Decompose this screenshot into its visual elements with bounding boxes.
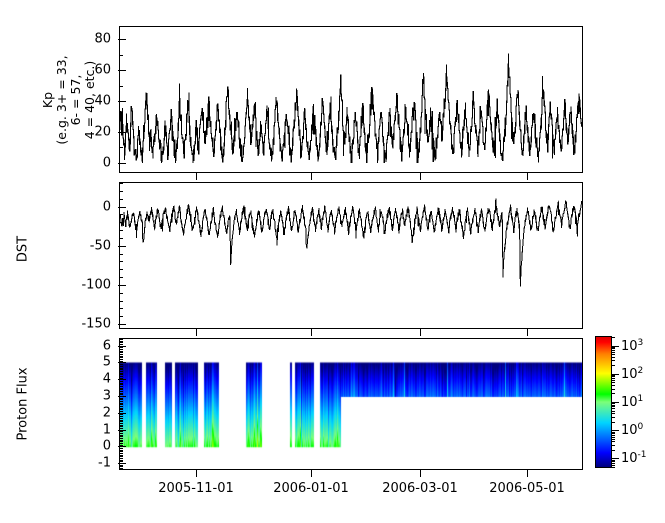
tick-mark [118, 39, 126, 40]
y-tick-label: 4 [73, 373, 111, 386]
tick-mark [119, 428, 123, 429]
tick-mark [119, 453, 123, 454]
tick-mark [118, 396, 126, 397]
tick-mark [119, 364, 123, 365]
dst-panel [119, 182, 583, 329]
tick-mark [119, 416, 123, 417]
tick-mark [119, 116, 123, 117]
tick-mark [420, 469, 421, 477]
tick-mark [119, 456, 123, 457]
y-tick-label: -50 [73, 240, 111, 253]
tick-mark [119, 466, 123, 467]
tick-mark [119, 342, 123, 343]
tick-mark [611, 450, 615, 451]
tick-mark [611, 352, 615, 353]
tick-mark [119, 339, 123, 340]
tick-mark [420, 328, 421, 336]
tick-mark [119, 393, 123, 394]
tick-mark [119, 214, 123, 215]
tick-mark [119, 418, 123, 419]
tick-mark [119, 383, 123, 384]
tick-mark [611, 405, 615, 406]
proton-plot-area [120, 339, 582, 469]
kp-axis-label-line-2: 6- = 57, [69, 25, 83, 175]
tick-mark [119, 394, 123, 395]
tick-mark [611, 385, 615, 386]
tick-mark [119, 401, 123, 402]
tick-mark [119, 351, 123, 352]
tick-mark [611, 357, 615, 358]
tick-mark [611, 380, 615, 381]
tick-mark [119, 183, 123, 184]
colorbar-gradient [596, 337, 611, 467]
tick-mark [611, 375, 615, 376]
tick-mark [119, 55, 123, 56]
colorbar-mantissa: 10 [621, 367, 638, 382]
tick-mark [119, 440, 123, 441]
tick-mark [119, 436, 123, 437]
tick-mark [119, 425, 123, 426]
tick-mark [611, 403, 615, 404]
tick-mark [119, 371, 123, 372]
tick-mark [118, 132, 126, 133]
data-trace [120, 198, 582, 286]
y-tick-label: 0 [73, 440, 111, 453]
tick-mark [611, 389, 615, 390]
proton-flux-panel [119, 338, 583, 470]
tick-mark [119, 376, 123, 377]
tick-mark [119, 468, 123, 469]
tick-mark [119, 381, 123, 382]
tick-mark [118, 163, 126, 164]
tick-mark [119, 403, 123, 404]
tick-mark [119, 458, 123, 459]
tick-mark [119, 352, 123, 353]
tick-mark [119, 443, 123, 444]
tick-mark [611, 422, 615, 423]
tick-mark [119, 465, 123, 466]
tick-mark [119, 423, 123, 424]
colorbar-mantissa: 10 [621, 339, 638, 354]
tick-mark [119, 414, 123, 415]
tick-mark [119, 86, 123, 87]
y-tick-label: 3 [73, 390, 111, 403]
dst-axis-label: DST [16, 219, 31, 279]
tick-mark [119, 308, 123, 309]
tick-mark [119, 426, 123, 427]
tick-mark [119, 399, 123, 400]
tick-mark [118, 446, 126, 447]
tick-mark [119, 384, 123, 385]
tick-mark [611, 365, 615, 366]
kp-plot-area [120, 27, 582, 172]
tick-mark [119, 354, 123, 355]
proton-flux-axis-label: Proton Flux [16, 349, 31, 459]
tick-mark [611, 348, 615, 349]
tick-mark [119, 408, 123, 409]
figure-root: 020406080 Kp(e.g. 3+ = 33,6- = 57,4 = 40… [0, 0, 665, 523]
tick-mark [611, 402, 619, 403]
tick-mark [119, 230, 123, 231]
tick-mark [119, 450, 123, 451]
colorbar-mantissa: 10 [621, 451, 638, 466]
colorbar-exponent: -1 [638, 450, 647, 460]
tick-mark [611, 445, 615, 446]
proton-flux-spectrogram [120, 339, 582, 469]
tick-mark [119, 409, 123, 410]
tick-mark [420, 172, 421, 180]
tick-mark [119, 448, 123, 449]
tick-mark [611, 408, 615, 409]
tick-mark [119, 404, 123, 405]
kp-axis-label: Kp(e.g. 3+ = 33,6- = 57,4 = 40, etc.) [41, 25, 97, 175]
tick-mark [611, 411, 615, 412]
dst-plot-area [120, 183, 582, 328]
tick-mark [118, 346, 126, 347]
tick-mark [119, 199, 123, 200]
tick-mark [119, 261, 123, 262]
tick-mark [118, 463, 126, 464]
y-tick-label: -100 [73, 279, 111, 292]
tick-mark [119, 359, 123, 360]
tick-mark [611, 350, 615, 351]
data-trace [120, 54, 582, 163]
tick-mark [119, 347, 123, 348]
tick-mark [119, 420, 123, 421]
tick-mark [611, 376, 615, 377]
tick-mark [119, 421, 123, 422]
tick-mark [611, 337, 615, 338]
tick-mark [118, 413, 126, 414]
x-tick-label: 2006-01-01 [273, 482, 349, 495]
x-tick-label: 2006-03-01 [382, 482, 458, 495]
colorbar-exponent: 0 [638, 422, 644, 432]
tick-mark [119, 451, 123, 452]
tick-mark [611, 435, 615, 436]
tick-mark [611, 406, 615, 407]
x-tick-label: 2005-11-01 [158, 482, 234, 495]
y-tick-label: 6 [73, 340, 111, 353]
tick-mark [119, 366, 123, 367]
x-tick-label: 2006-05-01 [489, 482, 565, 495]
tick-mark [119, 316, 123, 317]
tick-mark [527, 172, 528, 180]
tick-mark [118, 379, 126, 380]
tick-mark [119, 373, 123, 374]
tick-mark [119, 398, 123, 399]
tick-mark [119, 388, 123, 389]
kp-axis-label-line-0: Kp [41, 25, 55, 175]
tick-mark [119, 301, 123, 302]
tick-mark [119, 411, 123, 412]
tick-mark [119, 369, 123, 370]
y-tick-label: -1 [73, 457, 111, 470]
tick-mark [119, 461, 123, 462]
y-tick-label: 2 [73, 407, 111, 420]
tick-mark [119, 356, 123, 357]
tick-mark [611, 437, 615, 438]
tick-mark [119, 238, 123, 239]
tick-mark [119, 374, 123, 375]
tick-mark [118, 70, 126, 71]
tick-mark [611, 432, 615, 433]
kp-panel [119, 26, 583, 173]
tick-mark [527, 328, 528, 336]
tick-mark [118, 285, 126, 286]
tick-mark [611, 382, 615, 383]
tick-mark [611, 433, 615, 434]
tick-mark [119, 349, 123, 350]
y-tick-label: -150 [73, 318, 111, 331]
tick-mark [611, 465, 615, 466]
colorbar-tick-label: 103 [621, 338, 643, 354]
kp-axis-label-line-3: 4 = 40, etc.) [83, 25, 97, 175]
tick-mark [611, 439, 615, 440]
colorbar-mantissa: 10 [621, 423, 638, 438]
tick-mark [119, 222, 123, 223]
tick-mark [118, 324, 126, 325]
tick-mark [119, 391, 123, 392]
tick-mark [119, 435, 123, 436]
kp-axis-label-line-1: (e.g. 3+ = 33, [55, 25, 69, 175]
tick-mark [119, 406, 123, 407]
tick-mark [196, 469, 197, 477]
tick-mark [311, 172, 312, 180]
tick-mark [611, 346, 619, 347]
tick-mark [196, 172, 197, 180]
colorbar-tick-label: 101 [621, 394, 643, 410]
tick-mark [611, 461, 615, 462]
tick-mark [611, 354, 615, 355]
tick-mark [611, 417, 615, 418]
tick-mark [119, 254, 123, 255]
proton-flux-colorbar [595, 336, 612, 468]
tick-mark [119, 386, 123, 387]
tick-mark [311, 328, 312, 336]
colorbar-tick-label: 102 [621, 366, 643, 382]
tick-mark [119, 389, 123, 390]
dst-series-svg [120, 183, 582, 328]
tick-mark [118, 362, 126, 363]
tick-mark [119, 438, 123, 439]
tick-mark [119, 460, 123, 461]
tick-mark [119, 293, 123, 294]
colorbar-exponent: 2 [638, 366, 644, 376]
y-tick-label: 1 [73, 424, 111, 437]
tick-mark [611, 463, 615, 464]
tick-mark [611, 467, 615, 468]
tick-mark [119, 368, 123, 369]
tick-mark [611, 347, 615, 348]
tick-mark [119, 433, 123, 434]
tick-mark [118, 246, 126, 247]
tick-mark [119, 357, 123, 358]
tick-mark [611, 378, 615, 379]
y-tick-label: 0 [73, 201, 111, 214]
colorbar-tick-label: 100 [621, 422, 643, 438]
tick-mark [119, 431, 123, 432]
tick-mark [196, 328, 197, 336]
tick-mark [611, 393, 615, 394]
tick-mark [118, 207, 126, 208]
colorbar-exponent: 3 [638, 338, 644, 348]
tick-mark [119, 191, 123, 192]
tick-mark [118, 101, 126, 102]
y-tick-label: 5 [73, 356, 111, 369]
tick-mark [611, 360, 615, 361]
kp-series-svg [120, 27, 582, 172]
tick-mark [611, 441, 615, 442]
tick-mark [119, 441, 123, 442]
tick-mark [611, 413, 615, 414]
tick-mark [611, 458, 619, 459]
colorbar-mantissa: 10 [621, 395, 638, 410]
colorbar-tick-label: 10-1 [621, 450, 647, 466]
tick-mark [527, 469, 528, 477]
tick-mark [119, 341, 123, 342]
colorbar-exponent: 1 [638, 394, 644, 404]
tick-mark [119, 455, 123, 456]
tick-mark [611, 430, 619, 431]
tick-mark [611, 460, 615, 461]
tick-mark [119, 147, 123, 148]
tick-mark [311, 469, 312, 477]
tick-mark [119, 344, 123, 345]
tick-mark [119, 277, 123, 278]
tick-mark [611, 374, 619, 375]
tick-mark [119, 269, 123, 270]
tick-mark [118, 430, 126, 431]
